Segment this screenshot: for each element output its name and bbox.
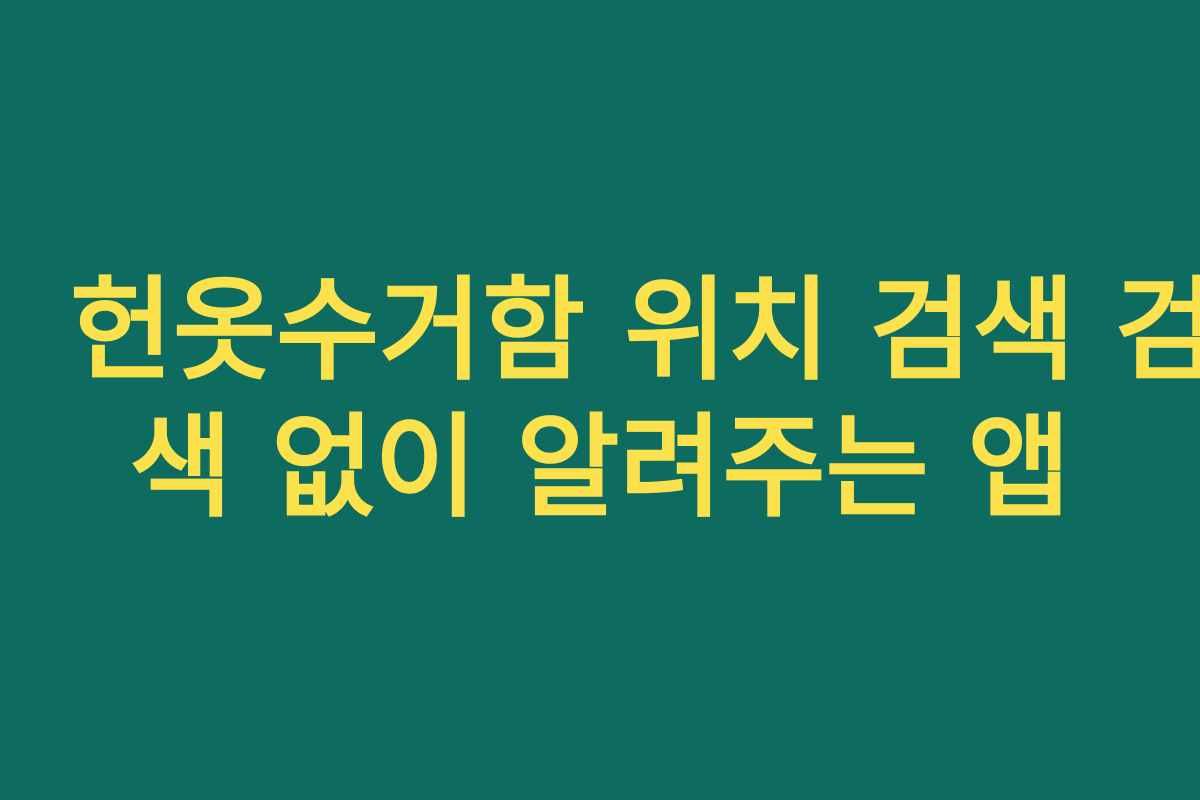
title-line-1: 헌옷수거함 위치 검색 검: [70, 263, 1130, 400]
page-title: 헌옷수거함 위치 검색 검 색 없이 알려주는 앱: [70, 263, 1130, 537]
banner-canvas: 헌옷수거함 위치 검색 검 색 없이 알려주는 앱: [0, 0, 1200, 800]
title-line-2: 색 없이 알려주는 앱: [70, 400, 1130, 537]
